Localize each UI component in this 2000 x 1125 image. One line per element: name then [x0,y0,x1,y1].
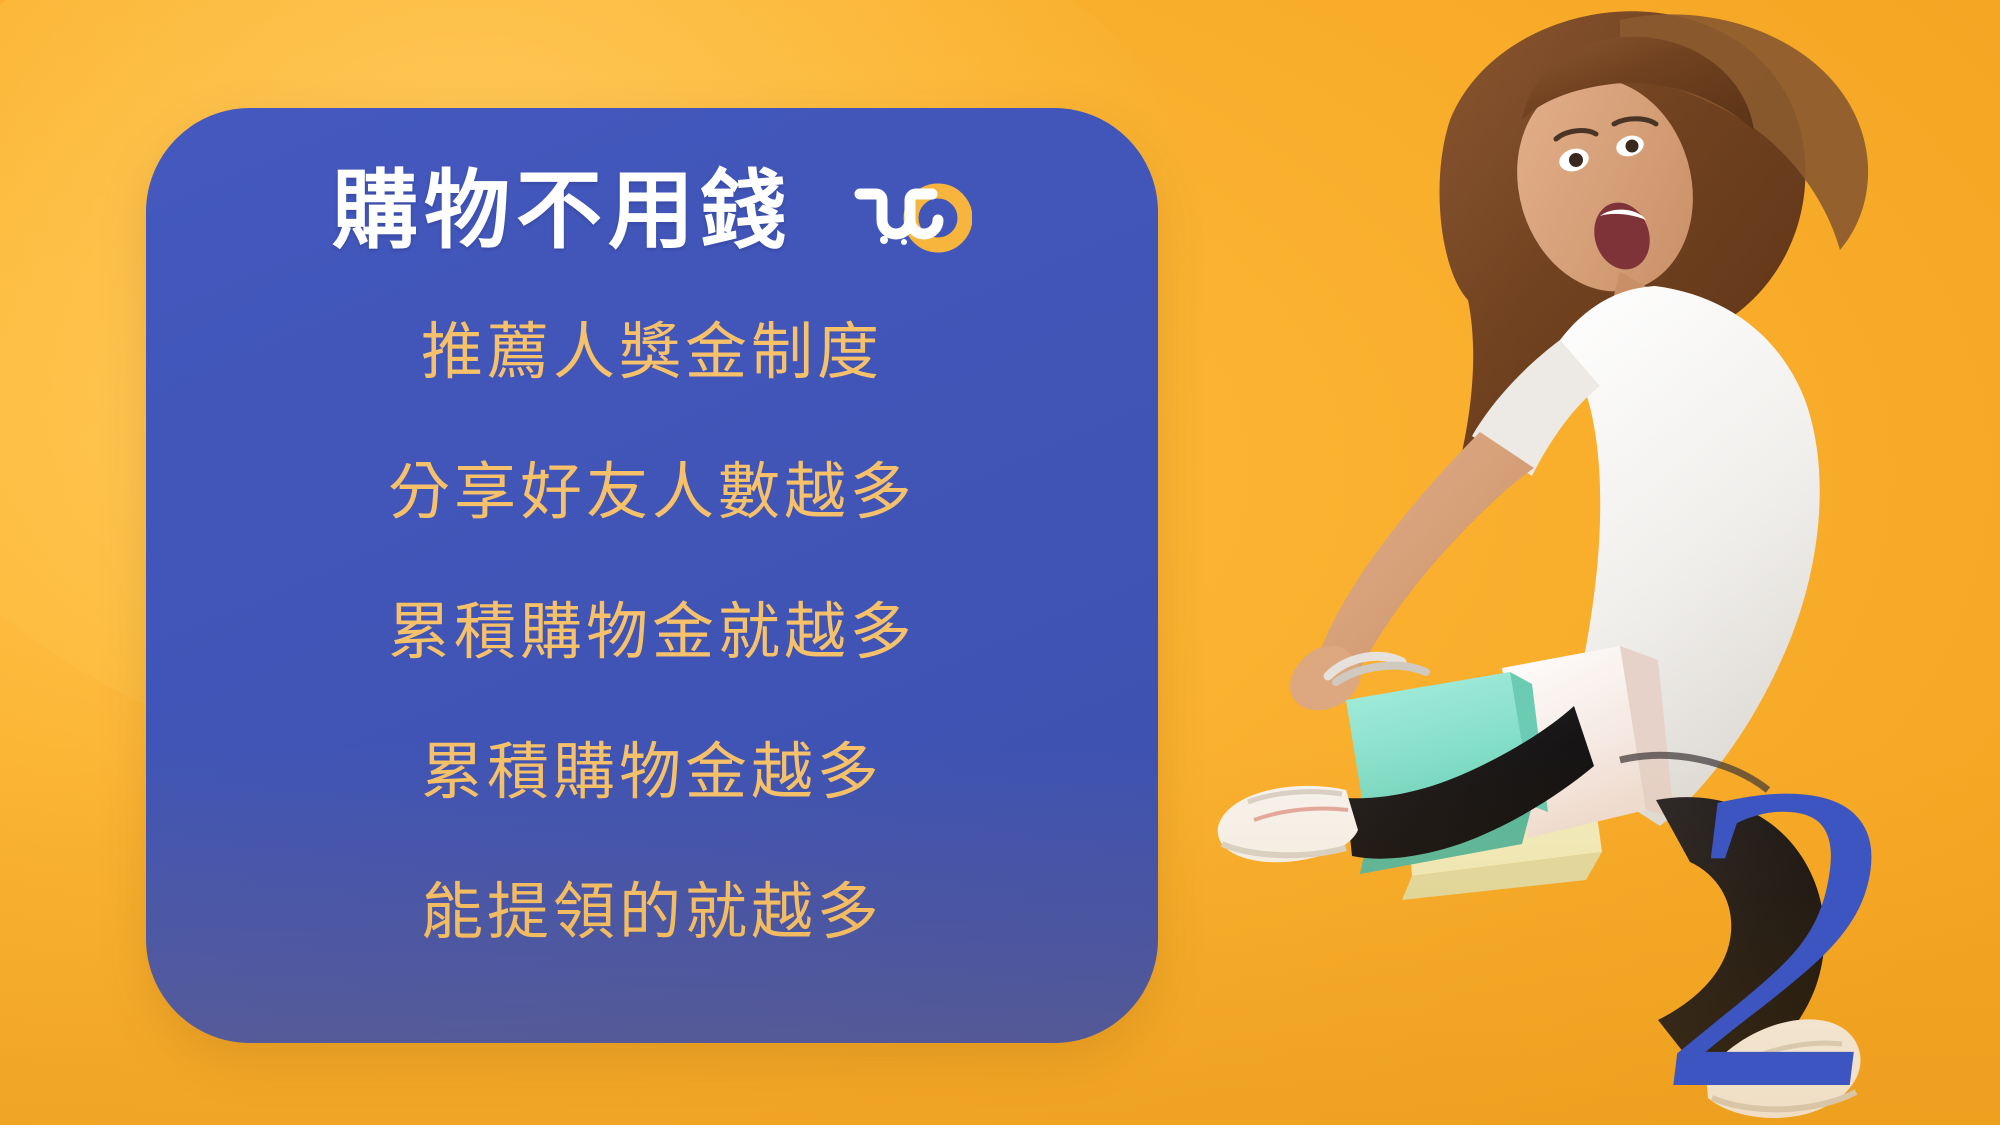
bullet-list: 推薦人獎金制度 分享好友人數越多 累積購物金就越多 累積購物金越多 能提領的就越… [210,267,1094,989]
bullet-item: 累積購物金就越多 [388,598,916,667]
bullet-item: 推薦人獎金制度 [421,318,883,387]
bullet-item: 累積購物金越多 [421,738,883,807]
slide-number: 2 [1650,758,1914,1119]
content-card: 購物不用錢 推薦人獎金制度 分享好友人數越多 累積購物金就越多 累積購物金越多 … [146,108,1158,1043]
bullet-item: 能提領的就越多 [421,878,883,947]
bullet-item: 分享好友人數越多 [388,458,916,527]
shopping-cart-logo [846,168,972,256]
card-header: 購物不用錢 [210,166,1094,257]
promo-slide: 購物不用錢 推薦人獎金制度 分享好友人數越多 累積購物金就越多 累積購物金越多 … [0,0,2000,1125]
card-title: 購物不用錢 [332,166,792,257]
